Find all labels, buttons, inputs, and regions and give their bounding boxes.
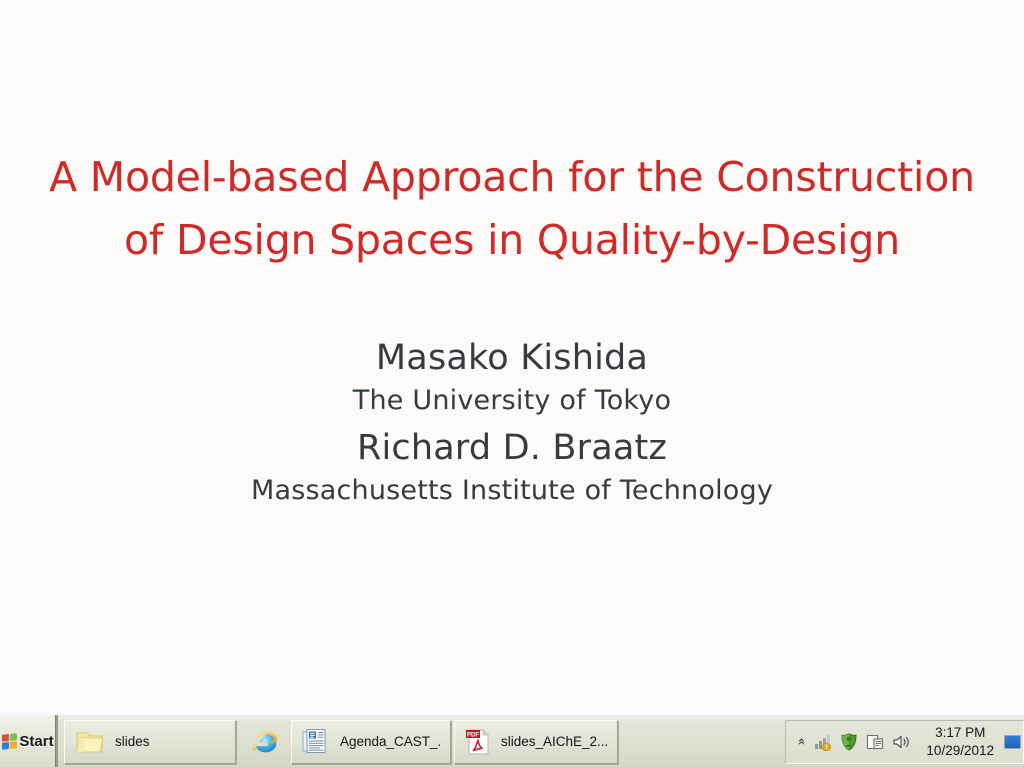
task-button-strip: slides [58, 715, 785, 768]
network-signal-icon[interactable] [810, 729, 836, 755]
show-desktop-button[interactable] [1003, 720, 1021, 764]
show-hidden-icons-chevron-icon[interactable]: « [795, 733, 808, 751]
security-shield-icon[interactable] [836, 729, 862, 755]
quicklaunch-internet-explorer[interactable] [244, 720, 286, 764]
author-name-1: Masako Kishida [0, 335, 1024, 382]
svg-text:PDF: PDF [467, 731, 480, 738]
taskbar-button-agenda[interactable]: Agenda_CAST_... [291, 720, 451, 764]
taskbar-button-pdf[interactable]: PDF slides_AIChE_2... [454, 720, 618, 764]
action-center-flag-icon[interactable] [862, 729, 888, 755]
taskbar-button-label: Agenda_CAST_... [340, 734, 440, 749]
document-icon [302, 728, 330, 756]
author-affiliation-1: The University of Tokyo [0, 382, 1024, 420]
taskbar-button-label: slides [115, 734, 150, 749]
taskbar-button-label: slides_AIChE_2... [501, 734, 607, 749]
windows-flag-icon [2, 733, 17, 749]
slide-title: A Model-based Approach for the Construct… [0, 146, 1024, 272]
folder-icon [75, 729, 105, 755]
monitor-icon [1004, 735, 1021, 749]
system-tray: « [785, 720, 1024, 764]
presentation-slide[interactable]: A Model-based Approach for the Construct… [0, 0, 1024, 714]
clock-date: 10/29/2012 [926, 742, 994, 760]
clock-time: 3:17 PM [935, 724, 985, 742]
start-button-label: Start [19, 733, 53, 750]
taskbar-button-slides[interactable]: slides [64, 720, 236, 764]
author-name-2: Richard D. Braatz [0, 425, 1024, 472]
taskbar: Start slides [0, 714, 1024, 768]
author-block: Masako Kishida The University of Tokyo R… [0, 335, 1024, 510]
start-button[interactable]: Start [0, 715, 58, 767]
taskbar-clock[interactable]: 3:17 PM 10/29/2012 [914, 724, 1003, 760]
author-affiliation-2: Massachusetts Institute of Technology [0, 472, 1024, 510]
pdf-icon: PDF [465, 728, 491, 756]
internet-explorer-icon [250, 727, 280, 757]
volume-speaker-icon[interactable] [888, 729, 914, 755]
